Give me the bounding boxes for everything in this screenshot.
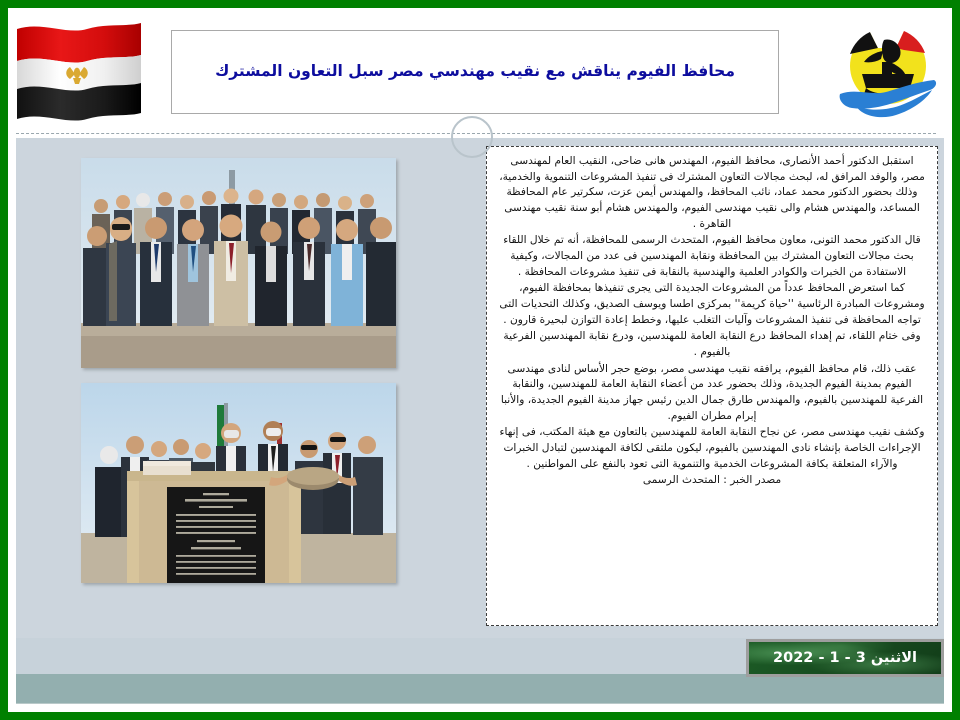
decorative-circle-icon xyxy=(451,116,493,158)
article-paragraph: وفى ختام اللقاء، تم إهداء المحافظ درع ال… xyxy=(497,329,927,360)
date-badge-inner: الاثنين 3 - 1 - 2022 xyxy=(749,642,941,674)
page-sheet: محافظ الفيوم يناقش مع نقيب مهندسي مصر سب… xyxy=(8,8,952,712)
article-paragraph: عقب ذلك، قام محافظ الفيوم، يرافقه نقيب م… xyxy=(497,362,927,425)
headline-box: محافظ الفيوم يناقش مع نقيب مهندسي مصر سب… xyxy=(171,30,779,114)
footer-band xyxy=(16,674,944,704)
article-paragraph: كما استعرض المحافظ عدداً من المشروعات ال… xyxy=(497,281,927,328)
article-paragraph: وكشف نقيب مهندسى مصر، عن نجاح النقابة ال… xyxy=(497,425,927,472)
article-source: مصدر الخبر : المتحدث الرسمى xyxy=(497,473,927,489)
page-title: محافظ الفيوم يناقش مع نقيب مهندسي مصر سب… xyxy=(215,61,735,83)
content-area: استقبل الدكتور أحمد الأنصارى، محافظ الفي… xyxy=(16,138,944,638)
news-page: محافظ الفيوم يناقش مع نقيب مهندسي مصر سب… xyxy=(0,0,960,720)
page-header: محافظ الفيوم يناقش مع نقيب مهندسي مصر سب… xyxy=(8,8,952,133)
foundation-stone-photo xyxy=(81,383,396,583)
group-photo xyxy=(81,158,396,368)
article-paragraph: استقبل الدكتور أحمد الأنصارى، محافظ الفي… xyxy=(497,154,927,232)
article-textbox: استقبل الدكتور أحمد الأنصارى، محافظ الفي… xyxy=(486,146,938,626)
date-text: الاثنين 3 - 1 - 2022 xyxy=(773,650,917,666)
article-paragraph: قال الدكتور محمد التونى، معاون محافظ الف… xyxy=(497,233,927,280)
fayoum-governorate-logo-icon xyxy=(826,18,946,130)
date-badge: الاثنين 3 - 1 - 2022 xyxy=(746,639,944,677)
egypt-flag-icon xyxy=(15,21,143,121)
